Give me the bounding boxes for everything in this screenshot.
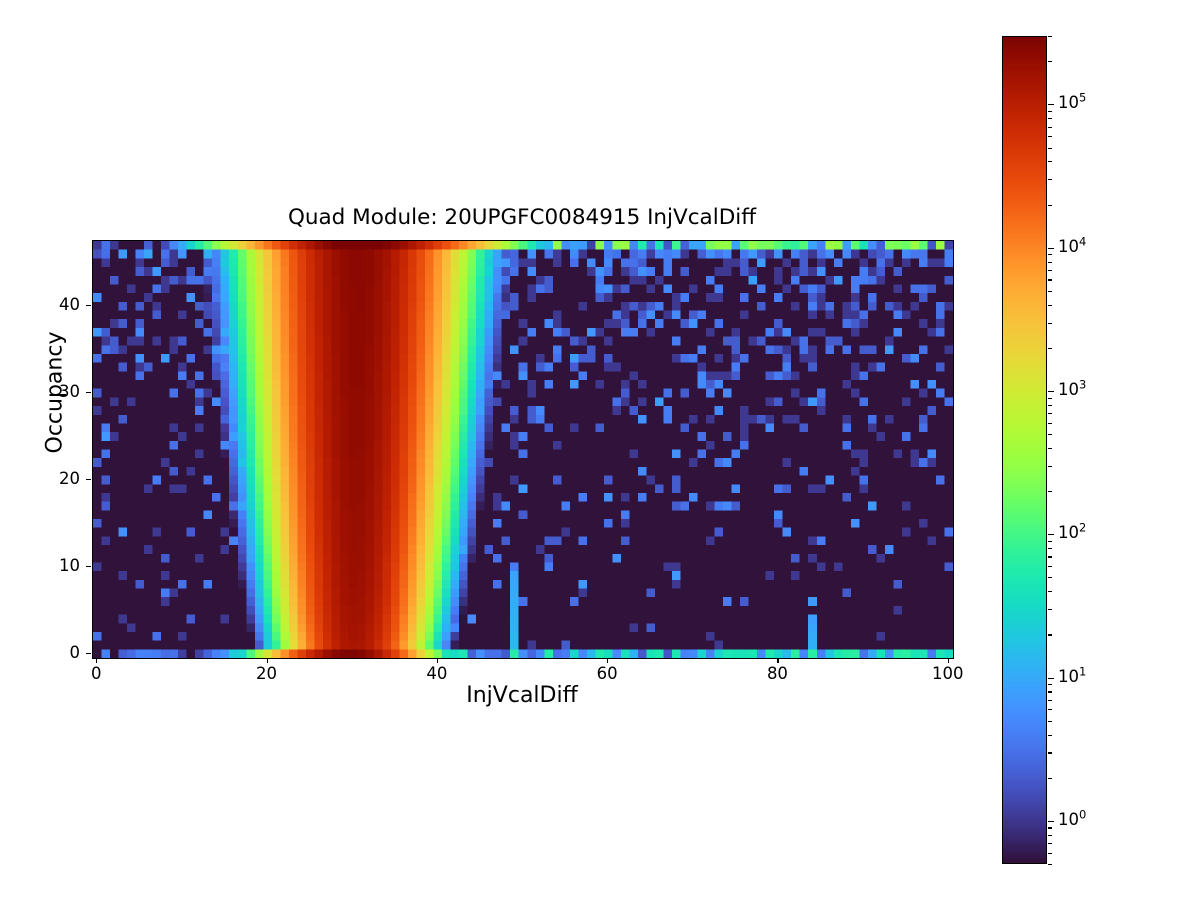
x-tick-label: 40 [407, 664, 467, 683]
colorbar-minor-tick-mark [1048, 36, 1052, 37]
colorbar-minor-tick-mark [1048, 577, 1052, 578]
colorbar-minor-tick-mark [1048, 609, 1052, 610]
colorbar-minor-tick-mark [1048, 835, 1052, 836]
x-axis-label: InjVcalDiff [92, 683, 952, 708]
colorbar-minor-tick-mark [1048, 413, 1052, 414]
colorbar-minor-tick-mark [1048, 161, 1052, 162]
y-tick-mark [86, 305, 91, 306]
x-tick-mark [437, 658, 438, 663]
colorbar-tick-label: 103 [1058, 380, 1086, 399]
page-title: Quad Module: 20UPGFC0084915 InjVcalDiff [92, 205, 952, 230]
colorbar-minor-tick-mark [1048, 548, 1052, 549]
colorbar-tick-label: 105 [1058, 93, 1086, 112]
colorbar-minor-tick-mark [1048, 541, 1052, 542]
colorbar-minor-tick-mark [1048, 853, 1052, 854]
colorbar-tick-label: 104 [1058, 237, 1086, 256]
colorbar-minor-tick-mark [1048, 566, 1052, 567]
colorbar-minor-tick-mark [1048, 270, 1052, 271]
colorbar [1002, 36, 1047, 864]
colorbar-minor-tick-mark [1048, 423, 1052, 424]
colorbar-minor-tick-mark [1048, 864, 1052, 865]
colorbar-tick-mark [1048, 248, 1054, 249]
colorbar-minor-tick-mark [1048, 262, 1052, 263]
y-tick-label: 30 [46, 382, 80, 401]
colorbar-tick-label: 100 [1058, 810, 1086, 829]
colorbar-minor-tick-mark [1048, 827, 1052, 828]
colorbar-minor-tick-mark [1048, 735, 1052, 736]
colorbar-minor-tick-mark [1048, 634, 1052, 635]
colorbar-minor-tick-mark [1048, 491, 1052, 492]
colorbar-tick-label: 102 [1058, 523, 1086, 542]
y-tick-mark [86, 392, 91, 393]
colorbar-minor-tick-mark [1048, 305, 1052, 306]
colorbar-tick-mark [1048, 821, 1054, 822]
x-tick-mark [96, 658, 97, 663]
colorbar-gradient [1002, 36, 1047, 864]
colorbar-minor-tick-mark [1048, 179, 1052, 180]
colorbar-minor-tick-mark [1048, 466, 1052, 467]
colorbar-minor-tick-mark [1048, 254, 1052, 255]
colorbar-tick-label: 101 [1058, 667, 1086, 686]
colorbar-minor-tick-mark [1048, 61, 1052, 62]
y-tick-label: 20 [46, 469, 80, 488]
colorbar-minor-tick-mark [1048, 405, 1052, 406]
x-tick-label: 0 [66, 664, 126, 683]
colorbar-minor-tick-mark [1048, 778, 1052, 779]
colorbar-minor-tick-mark [1048, 127, 1052, 128]
colorbar-minor-tick-mark [1048, 291, 1052, 292]
colorbar-tick-mark [1048, 534, 1054, 535]
x-tick-label: 100 [918, 664, 978, 683]
y-tick-mark [86, 653, 91, 654]
colorbar-minor-tick-mark [1048, 556, 1052, 557]
heatmap-plot-area [92, 240, 954, 659]
colorbar-minor-tick-mark [1048, 279, 1052, 280]
colorbar-minor-tick-mark [1048, 843, 1052, 844]
colorbar-minor-tick-mark [1048, 118, 1052, 119]
colorbar-minor-tick-mark [1048, 323, 1052, 324]
colorbar-minor-tick-mark [1048, 148, 1052, 149]
colorbar-minor-tick-mark [1048, 111, 1052, 112]
heatmap-image [93, 241, 953, 658]
x-tick-label: 60 [577, 664, 637, 683]
colorbar-minor-tick-mark [1048, 752, 1052, 753]
colorbar-minor-tick-mark [1048, 684, 1052, 685]
colorbar-minor-tick-mark [1048, 205, 1052, 206]
x-tick-mark [267, 658, 268, 663]
colorbar-minor-tick-mark [1048, 434, 1052, 435]
colorbar-minor-tick-mark [1048, 691, 1052, 692]
x-tick-mark [948, 658, 949, 663]
colorbar-minor-tick-mark [1048, 591, 1052, 592]
y-tick-label: 40 [46, 295, 80, 314]
y-tick-label: 0 [46, 643, 80, 662]
colorbar-tick-mark [1048, 391, 1054, 392]
y-tick-label: 10 [46, 556, 80, 575]
colorbar-minor-tick-mark [1048, 136, 1052, 137]
colorbar-minor-tick-mark [1048, 721, 1052, 722]
colorbar-minor-tick-mark [1048, 348, 1052, 349]
figure-canvas: Quad Module: 20UPGFC0084915 InjVcalDiff … [0, 0, 1200, 900]
colorbar-minor-tick-mark [1048, 448, 1052, 449]
x-tick-mark [607, 658, 608, 663]
colorbar-tick-mark [1048, 678, 1054, 679]
x-tick-label: 80 [747, 664, 807, 683]
y-tick-mark [86, 479, 91, 480]
x-tick-mark [777, 658, 778, 663]
colorbar-minor-tick-mark [1048, 709, 1052, 710]
x-tick-label: 20 [237, 664, 297, 683]
colorbar-minor-tick-mark [1048, 398, 1052, 399]
colorbar-tick-mark [1048, 104, 1054, 105]
y-tick-mark [86, 566, 91, 567]
colorbar-minor-tick-mark [1048, 700, 1052, 701]
